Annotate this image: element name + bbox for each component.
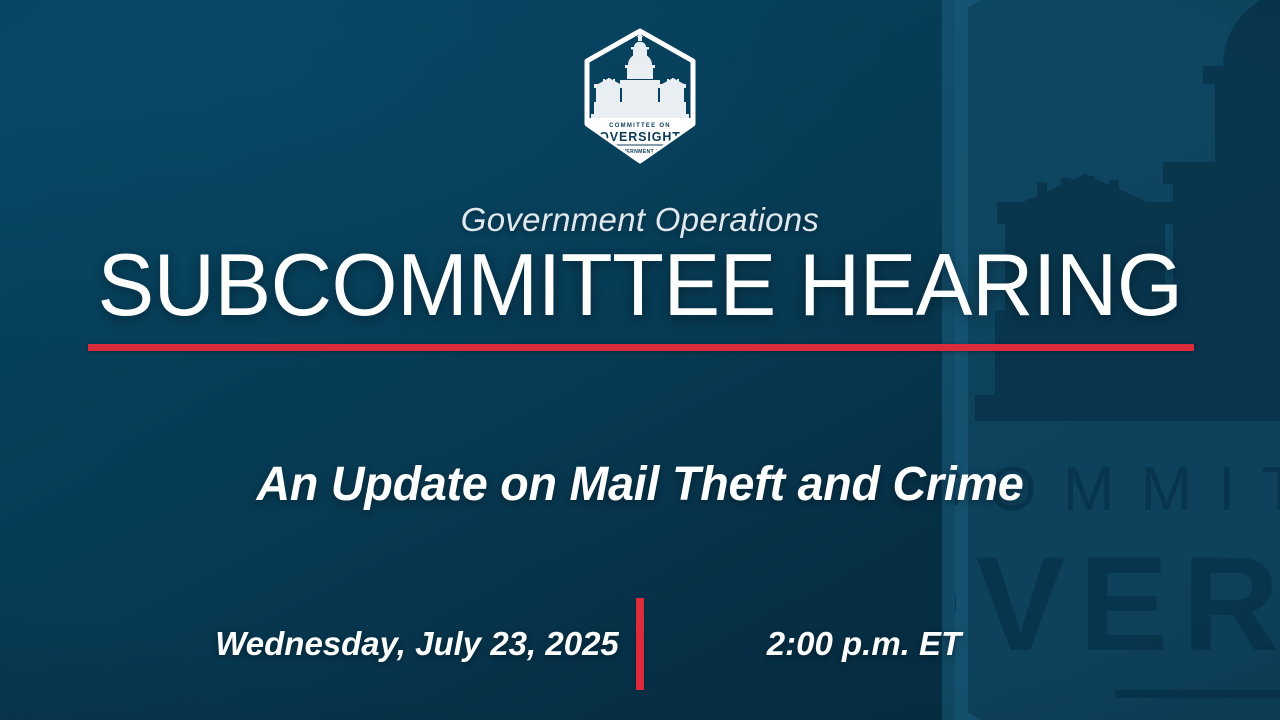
oversight-committee-seal-logo: COMMITTEE ON OVERSIGHT AND GOVERNMENT RE… (578, 26, 702, 166)
footer-divider (636, 598, 644, 690)
seal-contents: COMMITTEE ON OVERSIGHT AND GOVERNMENT RE… (587, 26, 693, 162)
seal-line3: AND GOVERNMENT REFORM (600, 149, 680, 155)
seal-capitol-icon (591, 26, 689, 118)
subcommittee-name-eyebrow: Government Operations (0, 201, 1280, 239)
hearing-date: Wednesday, July 23, 2025 (206, 625, 636, 663)
page-title: SUBCOMMITTEE HEARING (22, 241, 1257, 329)
seal-line1: COMMITTEE ON (609, 123, 671, 129)
hearing-time: 2:00 p.m. ET (644, 625, 1074, 663)
seal-divider-rule (614, 145, 666, 146)
hearing-details-footer: Wednesday, July 23, 2025 2:00 p.m. ET (0, 596, 1280, 692)
title-accent-rule (88, 344, 1194, 351)
hearing-subtitle: An Update on Mail Theft and Crime (19, 459, 1261, 511)
hearing-title-card: COMMITTEE ON OVERSIGHT AND GOVERNMENT RE… (0, 0, 1280, 720)
